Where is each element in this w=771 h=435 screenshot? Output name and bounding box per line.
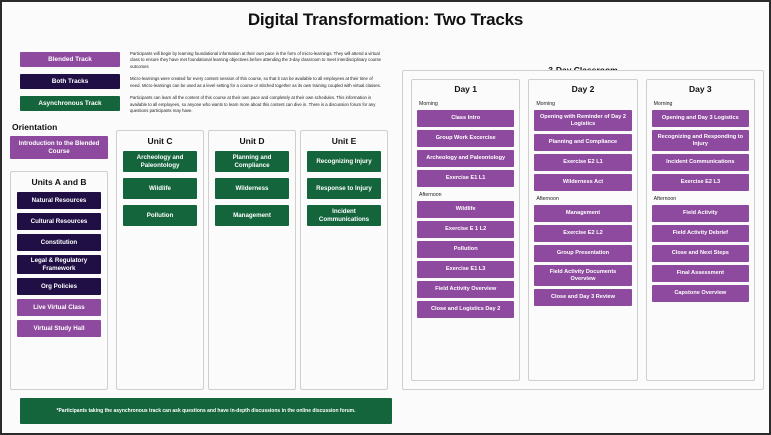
orientation-heading: Orientation xyxy=(10,122,108,132)
day-1-afternoon-label: Afternoon xyxy=(419,192,514,198)
day-1-morning-exercise-e1-l1[interactable]: Exercise E1 L1 xyxy=(417,170,514,187)
unit-e-item-recognizing-injury[interactable]: Recognizing Injury xyxy=(307,151,381,172)
units-ab-panel: Units A and B Natural Resources Cultural… xyxy=(10,171,108,390)
day-1-afternoon-exercise-e1-l3[interactable]: Exercise E1 L3 xyxy=(417,261,514,278)
units-ab-item-cultural-resources[interactable]: Cultural Resources xyxy=(17,213,101,230)
day-3-morning-label: Morning xyxy=(654,101,749,107)
legend-item-asynchronous-track: Asynchronous Track xyxy=(20,96,120,111)
day-2-afternoon-close-day-3-review[interactable]: Close and Day 3 Review xyxy=(534,289,631,306)
day-2-afternoon-field-activity-documents-overview[interactable]: Field Activity Documents Overview xyxy=(534,265,631,286)
unit-d-panel: Unit D Planning and Compliance Wildernes… xyxy=(208,130,296,390)
day-2-afternoon-management[interactable]: Management xyxy=(534,205,631,222)
units-ab-heading: Units A and B xyxy=(17,177,101,187)
day-3-afternoon-final-assessment[interactable]: Final Assessment xyxy=(652,265,749,282)
day-3-morning-recognizing-responding-injury[interactable]: Recognizing and Responding to Injury xyxy=(652,130,749,151)
unit-c-heading: Unit C xyxy=(123,136,197,146)
unit-d-heading: Unit D xyxy=(215,136,289,146)
classroom-days: Day 1 Morning Class Intro Group Work Exc… xyxy=(403,71,763,389)
legend-item-blended-track: Blended Track xyxy=(20,52,120,67)
track-descriptions: Participants will begin by learning foun… xyxy=(130,51,382,121)
description-asynchronous-track: Participants can learn all the content o… xyxy=(130,95,382,114)
day-3-afternoon-capstone-overview[interactable]: Capstone Overview xyxy=(652,285,749,302)
day-2-heading: Day 2 xyxy=(534,84,631,94)
page-title: Digital Transformation: Two Tracks xyxy=(2,2,769,36)
day-1-heading: Day 1 xyxy=(417,84,514,94)
orientation-item-introduction[interactable]: Introduction to the Blended Course xyxy=(10,136,108,159)
day-3-morning-opening-day-3-logistics[interactable]: Opening and Day 3 Logistics xyxy=(652,110,749,127)
day-2-morning-opening-reminder-logistics[interactable]: Opening with Reminder of Day 2 Logistics xyxy=(534,110,631,131)
unit-c-item-wildlife[interactable]: Wildlife xyxy=(123,178,197,199)
day-3-afternoon-label: Afternoon xyxy=(654,196,749,202)
unit-c-panel: Unit C Archeology and Paleontology Wildl… xyxy=(116,130,204,390)
unit-d-item-wilderness[interactable]: Wilderness xyxy=(215,178,289,199)
unit-e-item-response-to-injury[interactable]: Response to Injury xyxy=(307,178,381,199)
units-ab-item-live-virtual-class[interactable]: Live Virtual Class xyxy=(17,299,101,316)
classroom-panel: Day 1 Morning Class Intro Group Work Exc… xyxy=(402,70,764,390)
unit-d-item-planning-compliance[interactable]: Planning and Compliance xyxy=(215,151,289,172)
day-1-afternoon-wildlife[interactable]: Wildlife xyxy=(417,201,514,218)
unit-d-item-management[interactable]: Management xyxy=(215,205,289,226)
day-3-morning-exercise-e2-l3[interactable]: Exercise E2 L3 xyxy=(652,174,749,191)
day-1-morning-archeology-paleontology[interactable]: Archeology and Paleontology xyxy=(417,150,514,167)
description-both-tracks: Micro-learnings were created for every c… xyxy=(130,76,382,89)
units-ab-item-natural-resources[interactable]: Natural Resources xyxy=(17,192,101,209)
unit-c-item-pollution[interactable]: Pollution xyxy=(123,205,197,226)
day-3-afternoon-close-next-steps[interactable]: Close and Next Steps xyxy=(652,245,749,262)
day-2-afternoon-label: Afternoon xyxy=(536,196,631,202)
slide-canvas: Digital Transformation: Two Tracks Blend… xyxy=(0,0,771,435)
unit-e-panel: Unit E Recognizing Injury Response to In… xyxy=(300,130,388,390)
unit-e-heading: Unit E xyxy=(307,136,381,146)
units-ab-item-constitution[interactable]: Constitution xyxy=(17,234,101,251)
units-ab-item-virtual-study-hall[interactable]: Virtual Study Hall xyxy=(17,320,101,337)
day-3-heading: Day 3 xyxy=(652,84,749,94)
unit-e-item-incident-communications[interactable]: Incident Communications xyxy=(307,205,381,226)
track-legend: Blended Track Both Tracks Asynchronous T… xyxy=(20,52,120,118)
day-3-morning-incident-communications[interactable]: Incident Communications xyxy=(652,154,749,171)
day-1-afternoon-close-logistics-day-2[interactable]: Close and Logistics Day 2 xyxy=(417,301,514,318)
day-3-afternoon-field-activity[interactable]: Field Activity xyxy=(652,205,749,222)
day-1-morning-group-work-excercise[interactable]: Group Work Excercise xyxy=(417,130,514,147)
units-ab-item-legal-regulatory-framework[interactable]: Legal & Regulatory Framework xyxy=(17,255,101,274)
orientation-panel: Orientation Introduction to the Blended … xyxy=(10,122,108,163)
description-blended-track: Participants will begin by learning foun… xyxy=(130,51,382,70)
self-paced-units-area: Orientation Introduction to the Blended … xyxy=(10,122,392,390)
day-1-morning-label: Morning xyxy=(419,101,514,107)
day-1-afternoon-exercise-e1-l2[interactable]: Exercise E 1 L2 xyxy=(417,221,514,238)
day-2-afternoon-exercise-e2-l2[interactable]: Exercise E2 L2 xyxy=(534,225,631,242)
units-ab-item-org-policies[interactable]: Org Policies xyxy=(17,278,101,295)
day-2-morning-planning-compliance[interactable]: Planning and Compliance xyxy=(534,134,631,151)
day-2-morning-label: Morning xyxy=(536,101,631,107)
day-2-morning-wilderness-act[interactable]: Wilderness Act xyxy=(534,174,631,191)
day-2-morning-exercise-e2-l1[interactable]: Exercise E2 L1 xyxy=(534,154,631,171)
day-3-column: Day 3 Morning Opening and Day 3 Logistic… xyxy=(646,79,755,381)
day-2-column: Day 2 Morning Opening with Reminder of D… xyxy=(528,79,637,381)
day-2-afternoon-group-presentation[interactable]: Group Presentation xyxy=(534,245,631,262)
day-1-morning-class-intro[interactable]: Class Intro xyxy=(417,110,514,127)
unit-c-item-archeology-paleontology[interactable]: Archeology and Paleontology xyxy=(123,151,197,172)
day-3-afternoon-field-activity-debrief[interactable]: Field Activity Debrief xyxy=(652,225,749,242)
day-1-afternoon-field-activity-overview[interactable]: Field Activity Overview xyxy=(417,281,514,298)
footnote-banner: *Participants taking the asynchronous tr… xyxy=(20,398,392,424)
day-1-column: Day 1 Morning Class Intro Group Work Exc… xyxy=(411,79,520,381)
day-1-afternoon-pollution[interactable]: Pollution xyxy=(417,241,514,258)
legend-item-both-tracks: Both Tracks xyxy=(20,74,120,89)
